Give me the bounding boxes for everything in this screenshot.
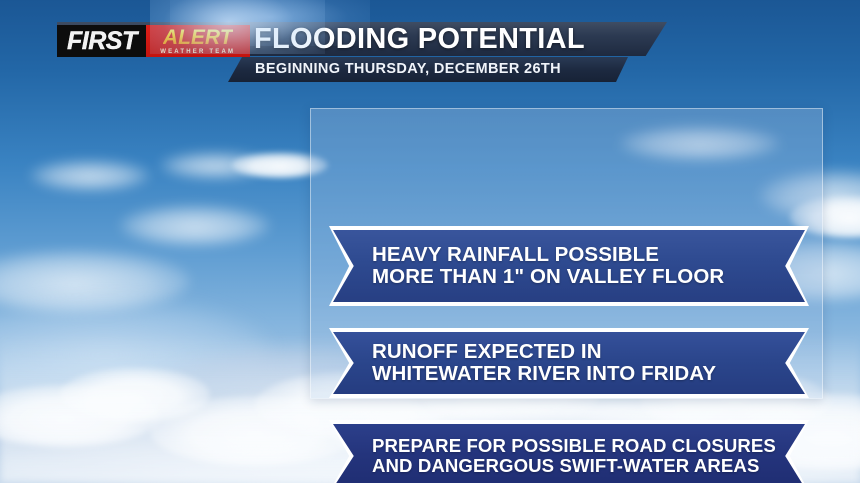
bullet-3-line-2: AND DANGERGOUS SWIFT-WATER AREAS xyxy=(372,456,805,476)
bullet-3-line-1: PREPARE FOR POSSIBLE ROAD CLOSURES xyxy=(372,436,805,456)
page-title: FLOODING POTENTIAL xyxy=(254,21,585,57)
subtitle: BEGINNING THURSDAY, DECEMBER 26TH xyxy=(255,58,561,81)
cloud xyxy=(30,160,150,190)
bullet-banner-2-body: RUNOFF EXPECTED IN WHITEWATER RIVER INTO… xyxy=(333,332,805,394)
bullet-banner-1: HEAVY RAINFALL POSSIBLE MORE THAN 1" ON … xyxy=(329,226,809,306)
logo-alert-block: ALERT WEATHER TEAM xyxy=(146,25,250,57)
bullet-2-line-2: WHITEWATER RIVER INTO FRIDAY xyxy=(372,363,805,385)
cloud xyxy=(120,205,270,245)
bullet-banner-2: RUNOFF EXPECTED IN WHITEWATER RIVER INTO… xyxy=(329,328,809,398)
bullet-2-line-1: RUNOFF EXPECTED IN xyxy=(372,341,805,363)
bullet-1-line-1: HEAVY RAINFALL POSSIBLE xyxy=(372,244,805,266)
logo-weather-team-text: WEATHER TEAM xyxy=(160,49,235,55)
bullet-1-line-2: MORE THAN 1" ON VALLEY FLOOR xyxy=(372,266,805,288)
logo-alert-text: ALERT xyxy=(163,28,233,48)
bullet-banner-1-body: HEAVY RAINFALL POSSIBLE MORE THAN 1" ON … xyxy=(333,230,805,302)
first-alert-weather-team-logo: FIRST ALERT WEATHER TEAM xyxy=(57,25,250,57)
logo-first-text: FIRST xyxy=(67,29,137,54)
bullet-panel: HEAVY RAINFALL POSSIBLE MORE THAN 1" ON … xyxy=(310,108,823,399)
header: FLOODING POTENTIAL BEGINNING THURSDAY, D… xyxy=(0,0,700,95)
bullet-banner-3-body: PREPARE FOR POSSIBLE ROAD CLOSURES AND D… xyxy=(333,424,805,483)
bullet-banner-3: PREPARE FOR POSSIBLE ROAD CLOSURES AND D… xyxy=(329,420,809,483)
logo-first-block: FIRST xyxy=(57,25,146,57)
